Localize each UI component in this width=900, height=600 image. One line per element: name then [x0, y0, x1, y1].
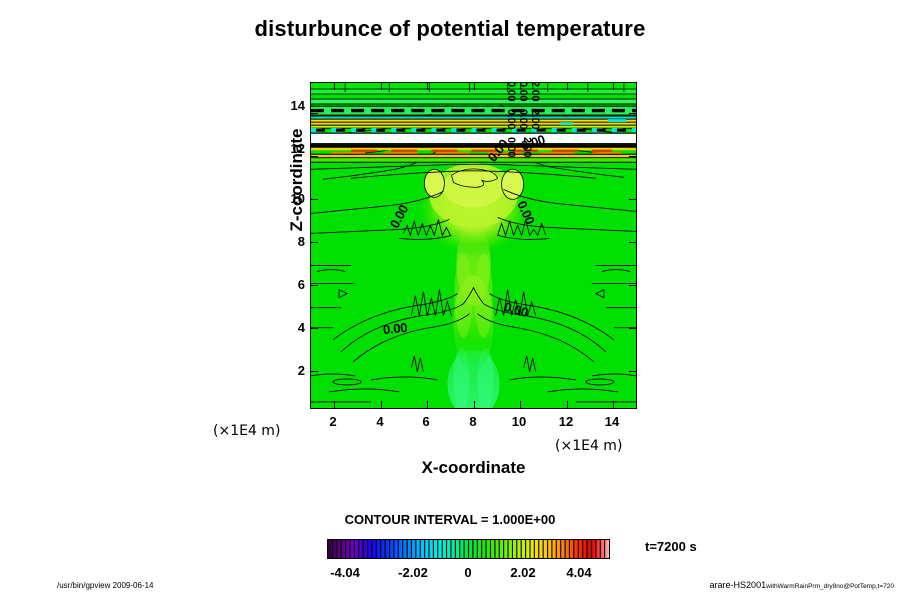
x-tick [474, 401, 475, 408]
footer-right-main: arare-HS2001 [710, 580, 767, 590]
y-tick [311, 156, 318, 157]
x-tick [381, 401, 382, 408]
x-tick-top [613, 83, 614, 90]
contour-label: 0.00 [382, 320, 408, 337]
contour-label-stack: 0.00 [505, 109, 517, 129]
colorbar-tick-label: 2.02 [500, 565, 546, 580]
x-tick-top [334, 83, 335, 90]
y-tick [311, 242, 318, 243]
y-tick-label: 14 [275, 98, 305, 113]
x-tick-label: 4 [370, 414, 390, 429]
y-tick [629, 113, 636, 114]
y-tick-label: 2 [275, 363, 305, 378]
y-tick [629, 199, 636, 200]
y-tick [629, 328, 636, 329]
colorbar-title: CONTOUR INTERVAL = 1.000E+00 [0, 512, 900, 527]
contour-label-stack: 2.00 [521, 137, 533, 157]
contour-label-stack: 2.00 [529, 109, 541, 129]
footer-right-sub: withWarmRainPrm_dry8no@PotTemp,t=720 [766, 583, 894, 590]
x-tick-label: 14 [602, 414, 622, 429]
x-tick [427, 401, 428, 408]
x-tick-label: 6 [416, 414, 436, 429]
y-tick [629, 285, 636, 286]
x-tick [520, 401, 521, 408]
time-stamp: t=7200 s [645, 539, 697, 554]
colorbar-tick-label: 4.04 [556, 565, 602, 580]
y-tick [311, 199, 318, 200]
y-tick [311, 328, 318, 329]
y-tick [311, 285, 318, 286]
colorbar-tick-label: -2.02 [390, 565, 436, 580]
colorbar[interactable] [327, 539, 610, 559]
y-tick [311, 371, 318, 372]
y-tick [629, 242, 636, 243]
colorbar-tick-label: -4.04 [322, 565, 368, 580]
x-tick-top [381, 83, 382, 90]
contour-label-stack: 0.00 [517, 82, 529, 101]
x-tick-top [474, 83, 475, 90]
colorbar-gradient [328, 540, 609, 558]
x-tick-label: 12 [556, 414, 576, 429]
y-tick [629, 371, 636, 372]
footer-right: arare-HS2001withWarmRainPrm_dry8no@PotTe… [710, 580, 894, 590]
x-tick-label: 8 [463, 414, 483, 429]
x-tick-label: 10 [509, 414, 529, 429]
x-tick-top [567, 83, 568, 90]
contour-label-stack: 0.00 [505, 137, 517, 157]
y-tick [311, 113, 318, 114]
x-tick [567, 401, 568, 408]
x-axis-title: X-coordinate [310, 458, 637, 478]
x-tick-label: 2 [323, 414, 343, 429]
y-tick-label: 4 [275, 320, 305, 335]
y-tick-label: 6 [275, 277, 305, 292]
x-tick [334, 401, 335, 408]
y-axis-title: Z-coordinate [287, 115, 307, 245]
x-axis-unit: (×1E4 m) [555, 438, 622, 454]
colorbar-tick-label: 0 [445, 565, 491, 580]
x-tick-top [427, 83, 428, 90]
x-tick [613, 401, 614, 408]
footer-left: /usr/bin/gpview 2009-06-14 [57, 581, 154, 590]
contour-field [311, 83, 636, 408]
contour-label-stack: 2.00 [529, 82, 541, 101]
page-title: disturbunce of potential temperature [0, 16, 900, 42]
y-axis-unit: (×1E4 m) [213, 423, 280, 439]
contour-plot[interactable]: 0.00 0.00 0.00 0.00 0.00 0.00 0.00 0.00 … [310, 82, 637, 409]
contour-label-stack: 0.00 [505, 82, 517, 101]
contour-label-stack: 0.00 [517, 109, 529, 129]
y-tick [629, 156, 636, 157]
